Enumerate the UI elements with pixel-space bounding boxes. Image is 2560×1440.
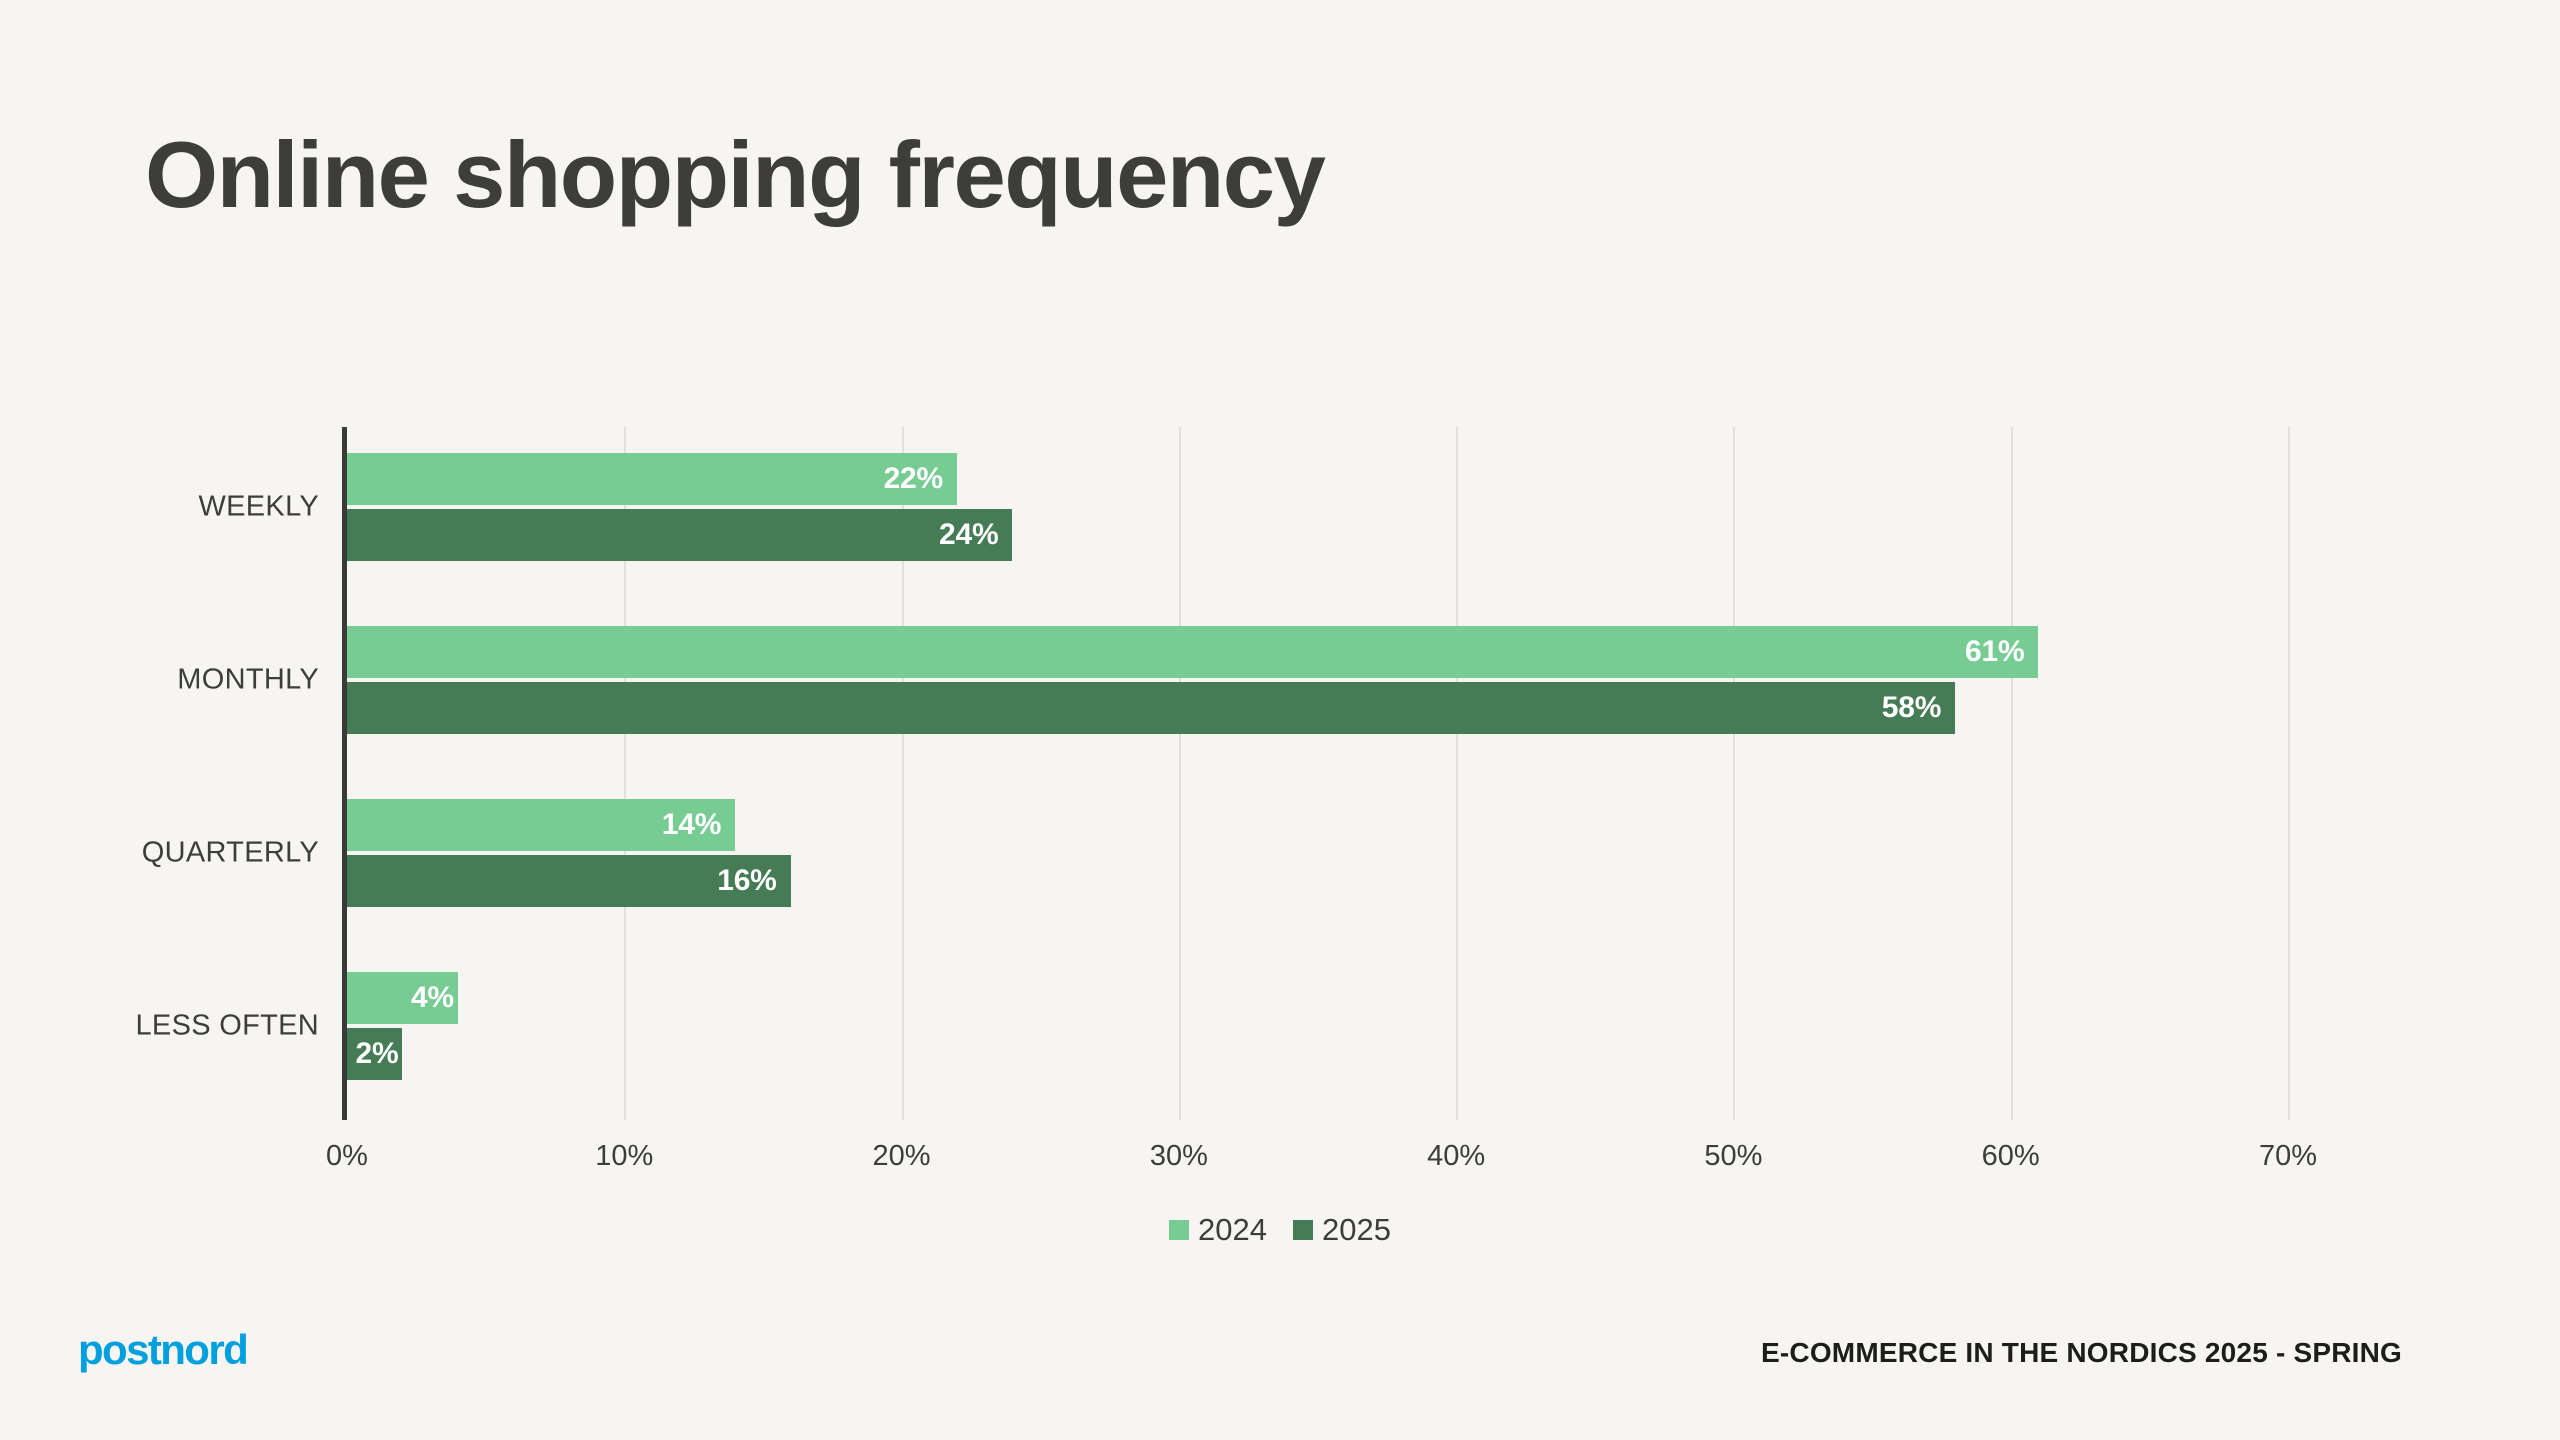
bar[interactable]: 16% [347,855,791,907]
legend: 20242025 [0,1212,2560,1248]
category-label: MONTHLY [177,664,319,697]
bar[interactable]: 2% [347,1028,402,1080]
footer-note: E-COMMERCE IN THE NORDICS 2025 - SPRING [1761,1337,2402,1369]
bar-value-label: 61% [1965,635,2038,669]
x-tick-label: 50% [1704,1140,1762,1173]
bar[interactable]: 24% [347,509,1012,561]
bar-rows: WEEKLY22%24%MONTHLY61%58%QUARTERLY14%16%… [347,427,2288,1120]
bar[interactable]: 22% [347,453,957,505]
legend-label: 2024 [1198,1212,1267,1248]
bar-value-label: 16% [717,864,790,898]
category-label: WEEKLY [198,491,319,524]
category-group: QUARTERLY14%16% [347,799,2288,907]
x-tick-label: 0% [326,1140,368,1173]
legend-swatch-icon [1293,1220,1313,1240]
legend-item[interactable]: 2024 [1169,1212,1267,1248]
bar[interactable]: 4% [347,972,458,1024]
x-tick-label: 30% [1150,1140,1208,1173]
bar[interactable]: 61% [347,626,2038,678]
legend-label: 2025 [1322,1212,1391,1248]
bar-value-label: 24% [939,518,1012,552]
x-tick-label: 10% [595,1140,653,1173]
category-label: QUARTERLY [142,837,319,870]
x-tick-label: 70% [2259,1140,2317,1173]
x-tick-label: 20% [873,1140,931,1173]
category-group: WEEKLY22%24% [347,453,2288,561]
bar-value-label: 2% [355,1037,402,1071]
bar-value-label: 14% [662,808,735,842]
plot-area: WEEKLY22%24%MONTHLY61%58%QUARTERLY14%16%… [347,427,2288,1120]
bar-value-label: 4% [411,981,458,1015]
bar-value-label: 22% [884,462,957,496]
x-axis-ticks: 0%10%20%30%40%50%60%70% [347,1140,2288,1190]
legend-swatch-icon [1169,1220,1189,1240]
category-label: LESS OFTEN [136,1010,320,1043]
bar[interactable]: 58% [347,682,1955,734]
bar[interactable]: 14% [347,799,735,851]
x-tick-label: 40% [1427,1140,1485,1173]
legend-item[interactable]: 2025 [1293,1212,1391,1248]
category-group: MONTHLY61%58% [347,626,2288,734]
x-tick-label: 60% [1982,1140,2040,1173]
page-title: Online shopping frequency [145,128,1324,222]
bar-value-label: 58% [1882,691,1955,725]
postnord-logo: postnord [78,1329,247,1371]
gridline [2288,427,2290,1120]
category-group: LESS OFTEN4%2% [347,972,2288,1080]
